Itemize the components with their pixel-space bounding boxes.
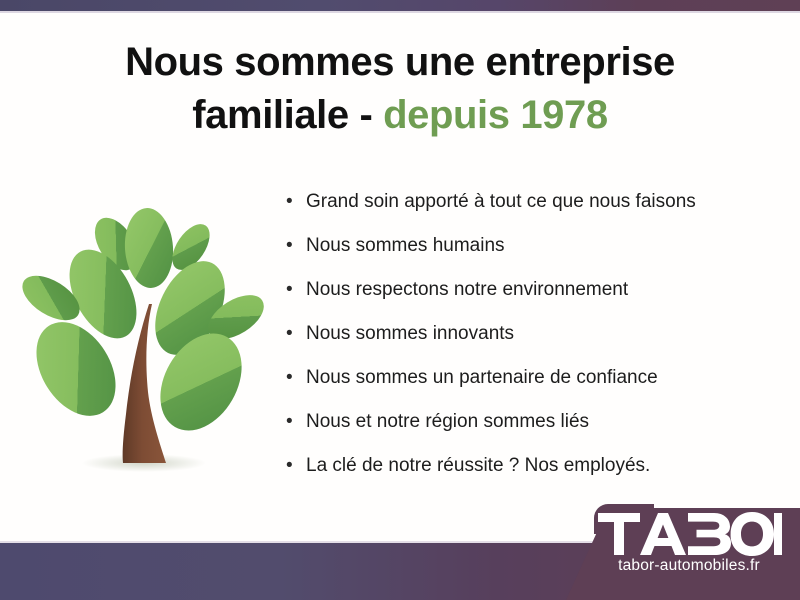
list-item-label: Nous et notre région sommes liés xyxy=(306,412,589,431)
list-item-label: Nous sommes innovants xyxy=(306,324,514,343)
list-item: • Grand soin apporté à tout ce que nous … xyxy=(286,192,766,236)
bullet-dot-icon: • xyxy=(286,280,306,299)
list-item-label: Nous sommes humains xyxy=(306,236,505,255)
list-item: • Nous sommes un partenaire de confiance xyxy=(286,368,766,412)
top-accent-hairline xyxy=(0,11,800,13)
bullet-dot-icon: • xyxy=(286,412,306,431)
list-item: • Nous et notre région sommes liés xyxy=(286,412,766,456)
tree-illustration xyxy=(18,186,270,486)
bullet-dot-icon: • xyxy=(286,456,306,475)
bullet-dot-icon: • xyxy=(286,236,306,255)
headline-line-2-main: familiale - xyxy=(192,93,372,137)
tabor-wordmark-icon xyxy=(596,509,782,557)
list-item-label: La clé de notre réussite ? Nos employés. xyxy=(306,456,650,475)
list-item-label: Nous respectons notre environnement xyxy=(306,280,628,299)
bullet-dot-icon: • xyxy=(286,192,306,211)
bullet-dot-icon: • xyxy=(286,368,306,387)
list-item: • Nous sommes innovants xyxy=(286,324,766,368)
logo-url-label: tabor-automobiles.fr xyxy=(596,557,782,575)
value-list: • Grand soin apporté à tout ce que nous … xyxy=(286,192,766,500)
top-accent-bar xyxy=(0,0,800,11)
slide-canvas: Nous sommes une entreprise familiale - d… xyxy=(0,0,800,600)
list-item: • Nous sommes humains xyxy=(286,236,766,280)
list-item: • La clé de notre réussite ? Nos employé… xyxy=(286,456,766,500)
list-item-label: Grand soin apporté à tout ce que nous fa… xyxy=(306,192,696,211)
brand-logo[interactable]: tabor-automobiles.fr xyxy=(596,509,786,591)
bullet-dot-icon: • xyxy=(286,324,306,343)
headline-line-1: Nous sommes une entreprise xyxy=(125,40,675,84)
page-title: Nous sommes une entreprise familiale - d… xyxy=(40,36,760,142)
list-item: • Nous respectons notre environnement xyxy=(286,280,766,324)
headline-line-2-accent: depuis 1978 xyxy=(383,93,608,137)
tree-icon xyxy=(18,186,270,486)
list-item-label: Nous sommes un partenaire de confiance xyxy=(306,368,658,387)
